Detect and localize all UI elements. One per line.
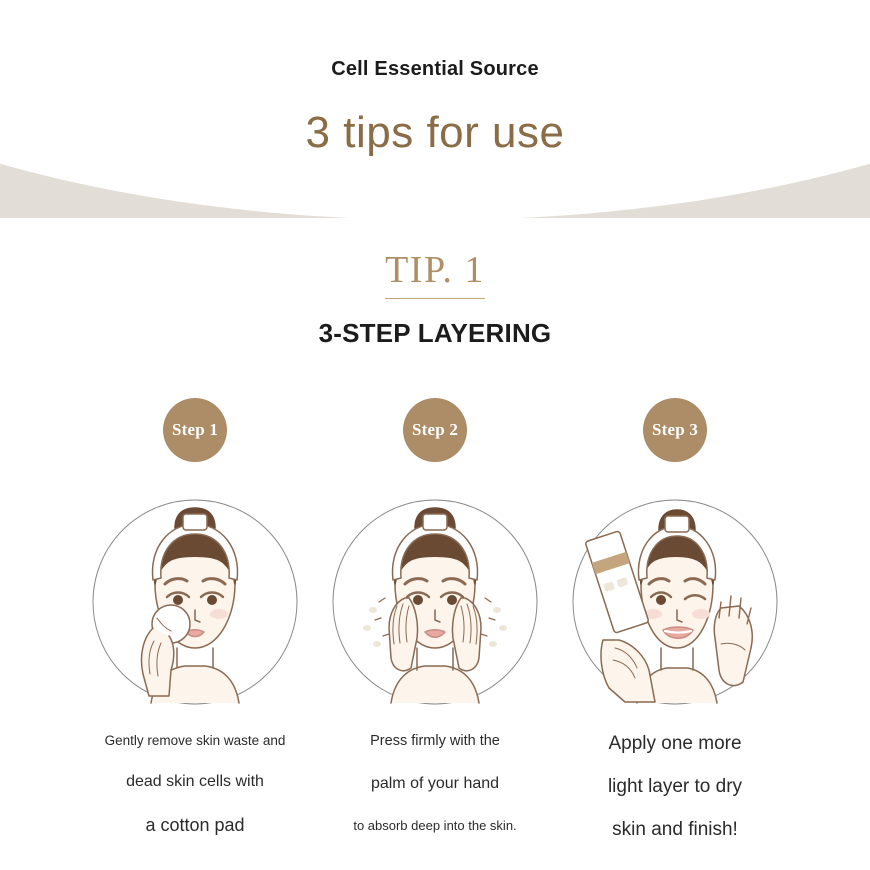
step-badge-3: Step 3 bbox=[643, 398, 707, 462]
caption-line: Press firmly with the bbox=[353, 734, 516, 776]
step-badge-2: Step 2 bbox=[403, 398, 467, 462]
woman-holding-bottle-winking-icon bbox=[571, 498, 779, 706]
step-caption-1: Gently remove skin waste and dead skin c… bbox=[105, 734, 286, 834]
tip-number-text: TIP. 1 bbox=[385, 248, 485, 299]
step-item: Step 3 bbox=[555, 398, 795, 839]
page-title: 3 tips for use bbox=[0, 108, 870, 158]
caption-line: a cotton pad bbox=[105, 816, 286, 834]
step-caption-2: Press firmly with the palm of your hand … bbox=[353, 734, 516, 832]
tip-subtitle: 3-STEP LAYERING bbox=[0, 318, 870, 349]
step-item: Step 2 bbox=[315, 398, 555, 839]
caption-line: to absorb deep into the skin. bbox=[353, 819, 516, 832]
woman-pressing-palms-on-face-icon bbox=[331, 498, 539, 706]
caption-line: skin and finish! bbox=[608, 820, 742, 839]
caption-line: palm of your hand bbox=[353, 776, 516, 819]
step-caption-3: Apply one more light layer to dry skin a… bbox=[608, 734, 742, 839]
caption-line: light layer to dry bbox=[608, 777, 742, 820]
caption-line: Gently remove skin waste and bbox=[105, 734, 286, 774]
brand-name: Cell Essential Source bbox=[0, 58, 870, 81]
caption-line: Apply one more bbox=[608, 734, 742, 777]
woman-applying-cotton-pad-icon bbox=[91, 498, 299, 706]
tip-number-label: TIP. 1 bbox=[0, 248, 870, 299]
steps-row: Step 1 bbox=[0, 398, 870, 839]
step-badge-1: Step 1 bbox=[163, 398, 227, 462]
caption-line: dead skin cells with bbox=[105, 774, 286, 816]
step-item: Step 1 bbox=[75, 398, 315, 839]
